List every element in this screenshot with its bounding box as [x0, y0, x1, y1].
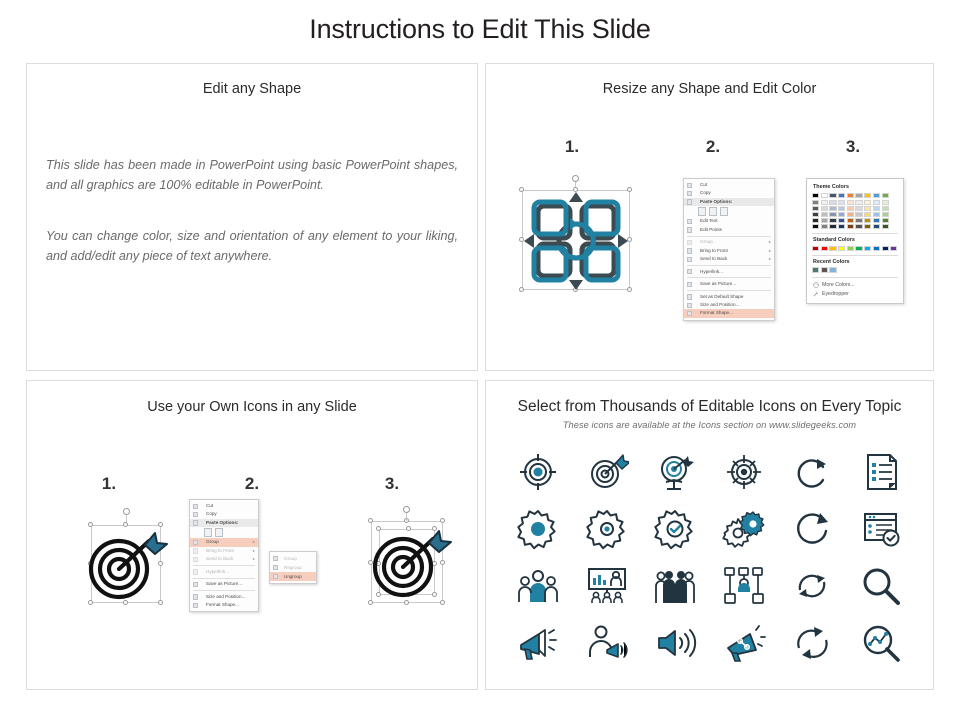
theme-tint-swatch[interactable] [812, 224, 819, 229]
submenu-item-ungroup[interactable]: Ungroup [270, 572, 316, 581]
theme-tint-swatch[interactable] [873, 206, 880, 211]
cut-icon [193, 504, 198, 509]
theme-tint-swatch[interactable] [821, 224, 828, 229]
theme-tint-swatch[interactable] [838, 212, 845, 217]
hyperlink-icon [193, 569, 198, 574]
standard-color-swatch[interactable] [864, 246, 871, 251]
paste-option-3-icon[interactable] [720, 207, 728, 216]
theme-tint-swatch[interactable] [855, 218, 862, 223]
theme-color-swatch[interactable] [882, 193, 889, 198]
presentation-board-icon[interactable] [585, 564, 629, 608]
selected-shape-graphic[interactable] [512, 180, 640, 300]
eyedropper-item[interactable]: Eyedropper [812, 290, 898, 299]
menu-item-size-and-position[interactable]: Size and Position... [190, 593, 258, 601]
theme-tint-swatch[interactable] [873, 218, 880, 223]
submenu-item-group[interactable]: Group [270, 554, 316, 563]
edit-text-icon [687, 219, 692, 224]
cycle-arrows-icon[interactable] [790, 621, 834, 665]
theme-color-column [829, 193, 836, 230]
menu-item-label: Group [206, 539, 219, 544]
paste-icon [687, 199, 692, 204]
menu-item-label: Size and Position... [700, 302, 739, 307]
theme-color-column [838, 193, 845, 230]
menu-item-label: Set as Default Shape [700, 294, 743, 299]
icon-context-menu[interactable]: CutCopyPaste Options:Group▸Bring to Fron… [189, 499, 259, 612]
gear-filled-icon[interactable] [516, 507, 560, 551]
menu-item-label: Paste Options: [206, 520, 238, 525]
menu-item-format-shape[interactable]: Format Shape... [190, 601, 258, 609]
theme-tint-swatch[interactable] [864, 206, 871, 211]
theme-tint-swatch[interactable] [812, 206, 819, 211]
menu-item-label: Copy [700, 190, 711, 195]
theme-tint-swatch[interactable] [855, 206, 862, 211]
theme-tint-swatch[interactable] [838, 200, 845, 205]
menu-item-copy[interactable]: Copy [684, 189, 774, 197]
theme-color-column [821, 193, 828, 230]
menu-item-label: Save as Picture... [206, 581, 242, 586]
submenu-chevron-icon: ▸ [769, 255, 771, 263]
theme-tint-swatch[interactable] [873, 224, 880, 229]
menu-item-send-to-back[interactable]: Send to Back▸ [684, 255, 774, 263]
target-arrow-icon [349, 509, 461, 619]
theme-color-column [882, 193, 889, 230]
panel-icon-library: Select from Thousands of Editable Icons … [485, 380, 934, 690]
format-shape-icon [193, 603, 198, 608]
theme-tint-swatch[interactable] [882, 206, 889, 211]
theme-tint-swatch[interactable] [829, 200, 836, 205]
standard-color-swatch[interactable] [873, 246, 880, 251]
menu-item-label: Edit Points [700, 227, 722, 232]
person-megaphone-icon[interactable] [585, 621, 629, 665]
submenu-item-label: Group [284, 556, 297, 561]
theme-tint-swatch[interactable] [812, 200, 819, 205]
palette-icon [813, 282, 819, 288]
submenu-item-regroup[interactable]: Regroup [270, 563, 316, 572]
org-chart-icon[interactable] [722, 564, 766, 608]
theme-tint-swatch[interactable] [847, 224, 854, 229]
panel-title-resize-shape: Resize any Shape and Edit Color [486, 81, 933, 97]
menu-divider [687, 277, 771, 278]
menu-item-label: Size and Position... [206, 594, 245, 599]
menu-item-paste-options[interactable]: Paste Options: [190, 519, 258, 527]
menu-divider [687, 265, 771, 266]
icon-library-grid [504, 443, 915, 671]
standard-color-swatch[interactable] [812, 246, 819, 251]
slide-canvas: Instructions to Edit This Slide Edit any… [0, 0, 960, 720]
menu-divider [193, 565, 255, 566]
submenu-chevron-icon: ▸ [253, 547, 255, 555]
theme-tint-swatch[interactable] [829, 212, 836, 217]
paragraph-one: This slide has been made in PowerPoint u… [46, 156, 458, 195]
theme-tint-swatch[interactable] [855, 200, 862, 205]
menu-divider [687, 290, 771, 291]
step-number-3: 3. [833, 137, 873, 157]
speaker-sound-icon[interactable] [653, 621, 697, 665]
theme-tint-swatch[interactable] [882, 224, 889, 229]
menu-item-group[interactable]: Group▸ [684, 238, 774, 246]
theme-color-swatch[interactable] [855, 193, 862, 198]
theme-tint-swatch[interactable] [821, 206, 828, 211]
menu-item-bring-to-front[interactable]: Bring to Front▸ [684, 247, 774, 255]
menu-divider [193, 590, 255, 591]
theme-colors-grid[interactable] [812, 193, 898, 230]
menu-item-label: Hyperlink... [700, 269, 723, 274]
step-number-1: 1. [552, 137, 592, 157]
menu-item-edit-points[interactable]: Edit Points [684, 226, 774, 234]
menu-item-cut[interactable]: Cut [684, 181, 774, 189]
theme-tint-swatch[interactable] [882, 218, 889, 223]
standard-color-swatch[interactable] [829, 246, 836, 251]
step-number-2: 2. [693, 137, 733, 157]
menu-item-set-as-default-shape[interactable]: Set as Default Shape [684, 293, 774, 301]
refresh-circle-icon[interactable] [790, 507, 834, 551]
menu-item-cut[interactable]: Cut [190, 502, 258, 510]
panel-subtitle-icon-library: These icons are available at the Icons s… [486, 420, 933, 430]
submenu-item-label: Regroup [284, 565, 302, 570]
paste-icon [193, 520, 198, 525]
target-arrow-icon[interactable] [585, 450, 629, 494]
menu-item-hyperlink[interactable]: Hyperlink... [684, 268, 774, 276]
copy-icon [193, 512, 198, 517]
crosshair-dot-icon[interactable] [722, 450, 766, 494]
target-ungrouped-graphic[interactable] [349, 509, 461, 619]
menu-item-label: Paste Options: [700, 199, 732, 204]
theme-color-column [855, 193, 862, 230]
submenu-chevron-icon: ▸ [253, 538, 255, 546]
standard-color-swatch[interactable] [821, 246, 828, 251]
standard-colors-label: Standard Colors [813, 237, 898, 243]
menu-item-copy[interactable]: Copy [190, 510, 258, 518]
megaphone-icon[interactable] [516, 621, 560, 665]
theme-color-column [847, 193, 854, 230]
document-check-icon[interactable] [859, 507, 903, 551]
menu-item-hyperlink[interactable]: Hyperlink... [190, 568, 258, 576]
theme-tint-swatch[interactable] [847, 200, 854, 205]
size-position-icon [193, 594, 198, 599]
menu-item-label: Cut [700, 182, 707, 187]
shape-context-menu[interactable]: CutCopyPaste Options:Edit TextEdit Point… [683, 178, 775, 321]
paste-option-1-icon[interactable] [204, 528, 212, 537]
eyedropper-label: Eyedropper [822, 291, 849, 297]
theme-tint-swatch[interactable] [838, 218, 845, 223]
theme-color-swatch[interactable] [812, 193, 819, 198]
bring-front-icon [193, 548, 198, 553]
menu-item-label: Bring to Front [700, 248, 728, 253]
theme-tint-swatch[interactable] [838, 224, 845, 229]
submenu-chevron-icon: ▸ [253, 555, 255, 563]
page-title: Instructions to Edit This Slide [0, 14, 960, 45]
ungroup-icon [273, 574, 278, 579]
standard-color-swatch[interactable] [890, 246, 897, 251]
theme-tint-swatch[interactable] [821, 212, 828, 217]
menu-item-size-and-position[interactable]: Size and Position... [684, 301, 774, 309]
send-back-icon [687, 257, 692, 262]
theme-color-swatch[interactable] [864, 193, 871, 198]
theme-tint-swatch[interactable] [855, 212, 862, 217]
submenu-chevron-icon: ▸ [769, 238, 771, 246]
menu-item-label: Format Shape... [700, 310, 733, 315]
group-icon [687, 240, 692, 245]
submenu-item-label: Ungroup [284, 574, 302, 579]
theme-color-swatch[interactable] [847, 193, 854, 198]
group-icon [273, 556, 278, 561]
theme-tint-swatch[interactable] [882, 200, 889, 205]
divider [812, 277, 898, 278]
theme-color-swatch[interactable] [829, 193, 836, 198]
megaphone-discount-icon[interactable] [722, 621, 766, 665]
panel-edit-any-shape: Edit any Shape This slide has been made … [26, 63, 478, 371]
color-picker-panel[interactable]: Theme Colors Standard Colors Recent Colo… [806, 178, 904, 304]
size-position-icon [687, 303, 692, 308]
panel-title-edit-shape: Edit any Shape [27, 81, 477, 97]
theme-colors-label: Theme Colors [813, 184, 898, 190]
theme-tint-swatch[interactable] [821, 218, 828, 223]
theme-tint-swatch[interactable] [882, 212, 889, 217]
standard-colors-row[interactable] [812, 246, 898, 251]
recent-colors-row[interactable] [812, 267, 898, 272]
magnifier-chart-icon[interactable] [859, 621, 903, 665]
more-colors-item[interactable]: More Colors... [812, 281, 898, 290]
standard-color-swatch[interactable] [882, 246, 889, 251]
theme-tint-swatch[interactable] [873, 212, 880, 217]
group-icon [193, 540, 198, 545]
paste-option-2-icon[interactable] [215, 528, 223, 537]
standard-color-swatch[interactable] [838, 246, 845, 251]
theme-tint-swatch[interactable] [838, 206, 845, 211]
theme-tint-swatch[interactable] [829, 218, 836, 223]
group-submenu[interactable]: GroupRegroupUngroup [269, 551, 317, 584]
theme-tint-swatch[interactable] [864, 200, 871, 205]
format-shape-icon [687, 311, 692, 316]
theme-tint-swatch[interactable] [847, 218, 854, 223]
panel-title-own-icons: Use your Own Icons in any Slide [27, 399, 477, 415]
menu-item-group[interactable]: Group▸ [190, 538, 258, 546]
recent-color-swatch[interactable] [821, 267, 828, 272]
sync-arrows-icon[interactable] [790, 564, 834, 608]
menu-item-paste-options[interactable]: Paste Options: [684, 198, 774, 206]
panel-resize-shape-edit-color: Resize any Shape and Edit Color 1. 2. 3. [485, 63, 934, 371]
theme-tint-swatch[interactable] [864, 218, 871, 223]
standard-color-swatch[interactable] [855, 246, 862, 251]
target-crosshair-icon[interactable] [516, 450, 560, 494]
theme-tint-swatch[interactable] [855, 224, 862, 229]
theme-tint-swatch[interactable] [821, 200, 828, 205]
four-squares-hub-icon [512, 180, 640, 300]
menu-item-bring-to-front[interactable]: Bring to Front▸ [190, 547, 258, 555]
divider [812, 233, 898, 234]
send-back-icon [193, 557, 198, 562]
menu-item-label: Cut [206, 503, 213, 508]
menu-item-edit-text[interactable]: Edit Text [684, 217, 774, 225]
divider [812, 255, 898, 256]
paste-option-2-icon[interactable] [709, 207, 717, 216]
theme-color-swatch[interactable] [873, 193, 880, 198]
theme-tint-swatch[interactable] [829, 224, 836, 229]
theme-tint-swatch[interactable] [873, 200, 880, 205]
theme-tint-swatch[interactable] [847, 212, 854, 217]
step-number-2: 2. [232, 474, 272, 494]
hyperlink-icon [687, 269, 692, 274]
step-number-1: 1. [89, 474, 129, 494]
panel-use-own-icons: Use your Own Icons in any Slide 1. 2. 3. [26, 380, 478, 690]
standard-color-swatch[interactable] [847, 246, 854, 251]
cut-icon [687, 183, 692, 188]
default-shape-icon [687, 294, 692, 299]
theme-tint-swatch[interactable] [847, 206, 854, 211]
menu-item-save-as-picture[interactable]: Save as Picture... [190, 580, 258, 588]
target-selected-graphic[interactable] [67, 511, 177, 617]
team-group-icon[interactable] [516, 564, 560, 608]
menu-divider [193, 578, 255, 579]
copy-icon [687, 191, 692, 196]
more-colors-label: More Colors... [822, 282, 855, 288]
theme-color-swatch[interactable] [821, 193, 828, 198]
gears-pair-icon[interactable] [722, 507, 766, 551]
eyedropper-icon [813, 291, 819, 297]
recent-color-swatch[interactable] [829, 267, 836, 272]
menu-item-save-as-picture[interactable]: Save as Picture... [684, 280, 774, 288]
paste-options-row[interactable] [684, 206, 774, 217]
gear-outline-icon[interactable] [585, 507, 629, 551]
submenu-chevron-icon: ▸ [769, 247, 771, 255]
people-crowd-icon[interactable] [653, 564, 697, 608]
paste-option-1-icon[interactable] [698, 207, 706, 216]
save-picture-icon [687, 282, 692, 287]
theme-tint-swatch[interactable] [812, 212, 819, 217]
paste-options-row[interactable] [190, 527, 258, 538]
menu-item-label: Save as Picture... [700, 281, 736, 286]
theme-tint-swatch[interactable] [812, 218, 819, 223]
step-number-3: 3. [372, 474, 412, 494]
bring-front-icon [687, 248, 692, 253]
menu-item-label: Send to Back [206, 556, 233, 561]
menu-item-label: Copy [206, 511, 217, 516]
theme-tint-swatch[interactable] [829, 206, 836, 211]
panel-title-icon-library: Select from Thousands of Editable Icons … [486, 398, 933, 416]
recent-color-swatch[interactable] [812, 267, 819, 272]
regroup-icon [273, 565, 278, 570]
menu-item-label: Hyperlink... [206, 569, 229, 574]
menu-item-label: Edit Text [700, 218, 718, 223]
menu-item-send-to-back[interactable]: Send to Back▸ [190, 555, 258, 563]
theme-tint-swatch[interactable] [864, 212, 871, 217]
save-picture-icon [193, 582, 198, 587]
gear-check-icon[interactable] [653, 507, 697, 551]
checklist-document-icon[interactable] [859, 450, 903, 494]
target-arrow-icon [67, 511, 177, 617]
menu-item-format-shape[interactable]: Format Shape... [684, 309, 774, 317]
target-stand-icon[interactable] [653, 450, 697, 494]
menu-item-label: Group [700, 239, 713, 244]
theme-color-column [812, 193, 819, 230]
theme-color-column [873, 193, 880, 230]
magnifier-icon[interactable] [859, 564, 903, 608]
theme-tint-swatch[interactable] [864, 224, 871, 229]
menu-divider [687, 236, 771, 237]
edit-points-icon [687, 227, 692, 232]
theme-color-swatch[interactable] [838, 193, 845, 198]
recent-colors-label: Recent Colors [813, 259, 898, 265]
theme-color-column [864, 193, 871, 230]
rotate-clockwise-icon[interactable] [790, 450, 834, 494]
menu-item-label: Format Shape... [206, 602, 239, 607]
paragraph-two: You can change color, size and orientati… [46, 227, 458, 266]
menu-item-label: Send to Back [700, 256, 727, 261]
menu-item-label: Bring to Front [206, 548, 234, 553]
